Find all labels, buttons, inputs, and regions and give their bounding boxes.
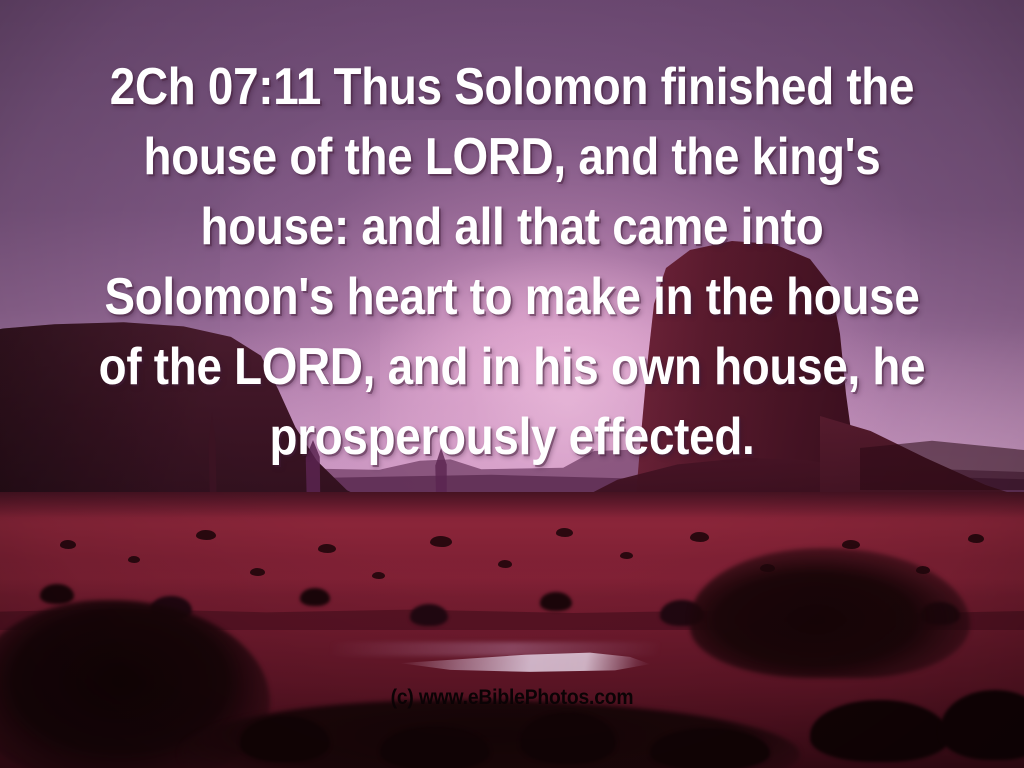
bush <box>240 716 330 762</box>
verse-line-5: of the LORD, and in his own house, he <box>61 332 962 402</box>
rock <box>318 544 336 553</box>
verse-line-1: 2Ch 07:11 Thus Solomon finished the <box>61 52 962 122</box>
watermark-credit: (c) www.eBiblePhotos.com <box>41 686 983 710</box>
bush <box>40 584 74 604</box>
verse-line-6: prosperously effected. <box>61 402 962 472</box>
verse-line-3: house: and all that came into <box>61 192 962 262</box>
rock <box>196 530 216 540</box>
verse-line-2: house of the LORD, and the king's <box>61 122 962 192</box>
floor-shadow-band <box>0 492 1024 518</box>
bush <box>300 588 330 606</box>
rock <box>250 568 265 576</box>
rock <box>372 572 385 579</box>
rock <box>128 556 140 563</box>
rock <box>498 560 512 568</box>
rock <box>556 528 573 537</box>
rock <box>430 536 452 547</box>
rock <box>620 552 633 559</box>
rock <box>968 534 984 543</box>
bush <box>410 604 448 626</box>
verse-line-4: Solomon's heart to make in the house <box>61 262 962 332</box>
rock <box>690 532 709 542</box>
verse-image-canvas: 2Ch 07:11 Thus Solomon finished the hous… <box>0 0 1024 768</box>
bush <box>540 592 572 611</box>
verse-text-block: 2Ch 07:11 Thus Solomon finished the hous… <box>61 52 962 472</box>
stream-edge-glow <box>330 642 660 656</box>
rock <box>60 540 76 549</box>
